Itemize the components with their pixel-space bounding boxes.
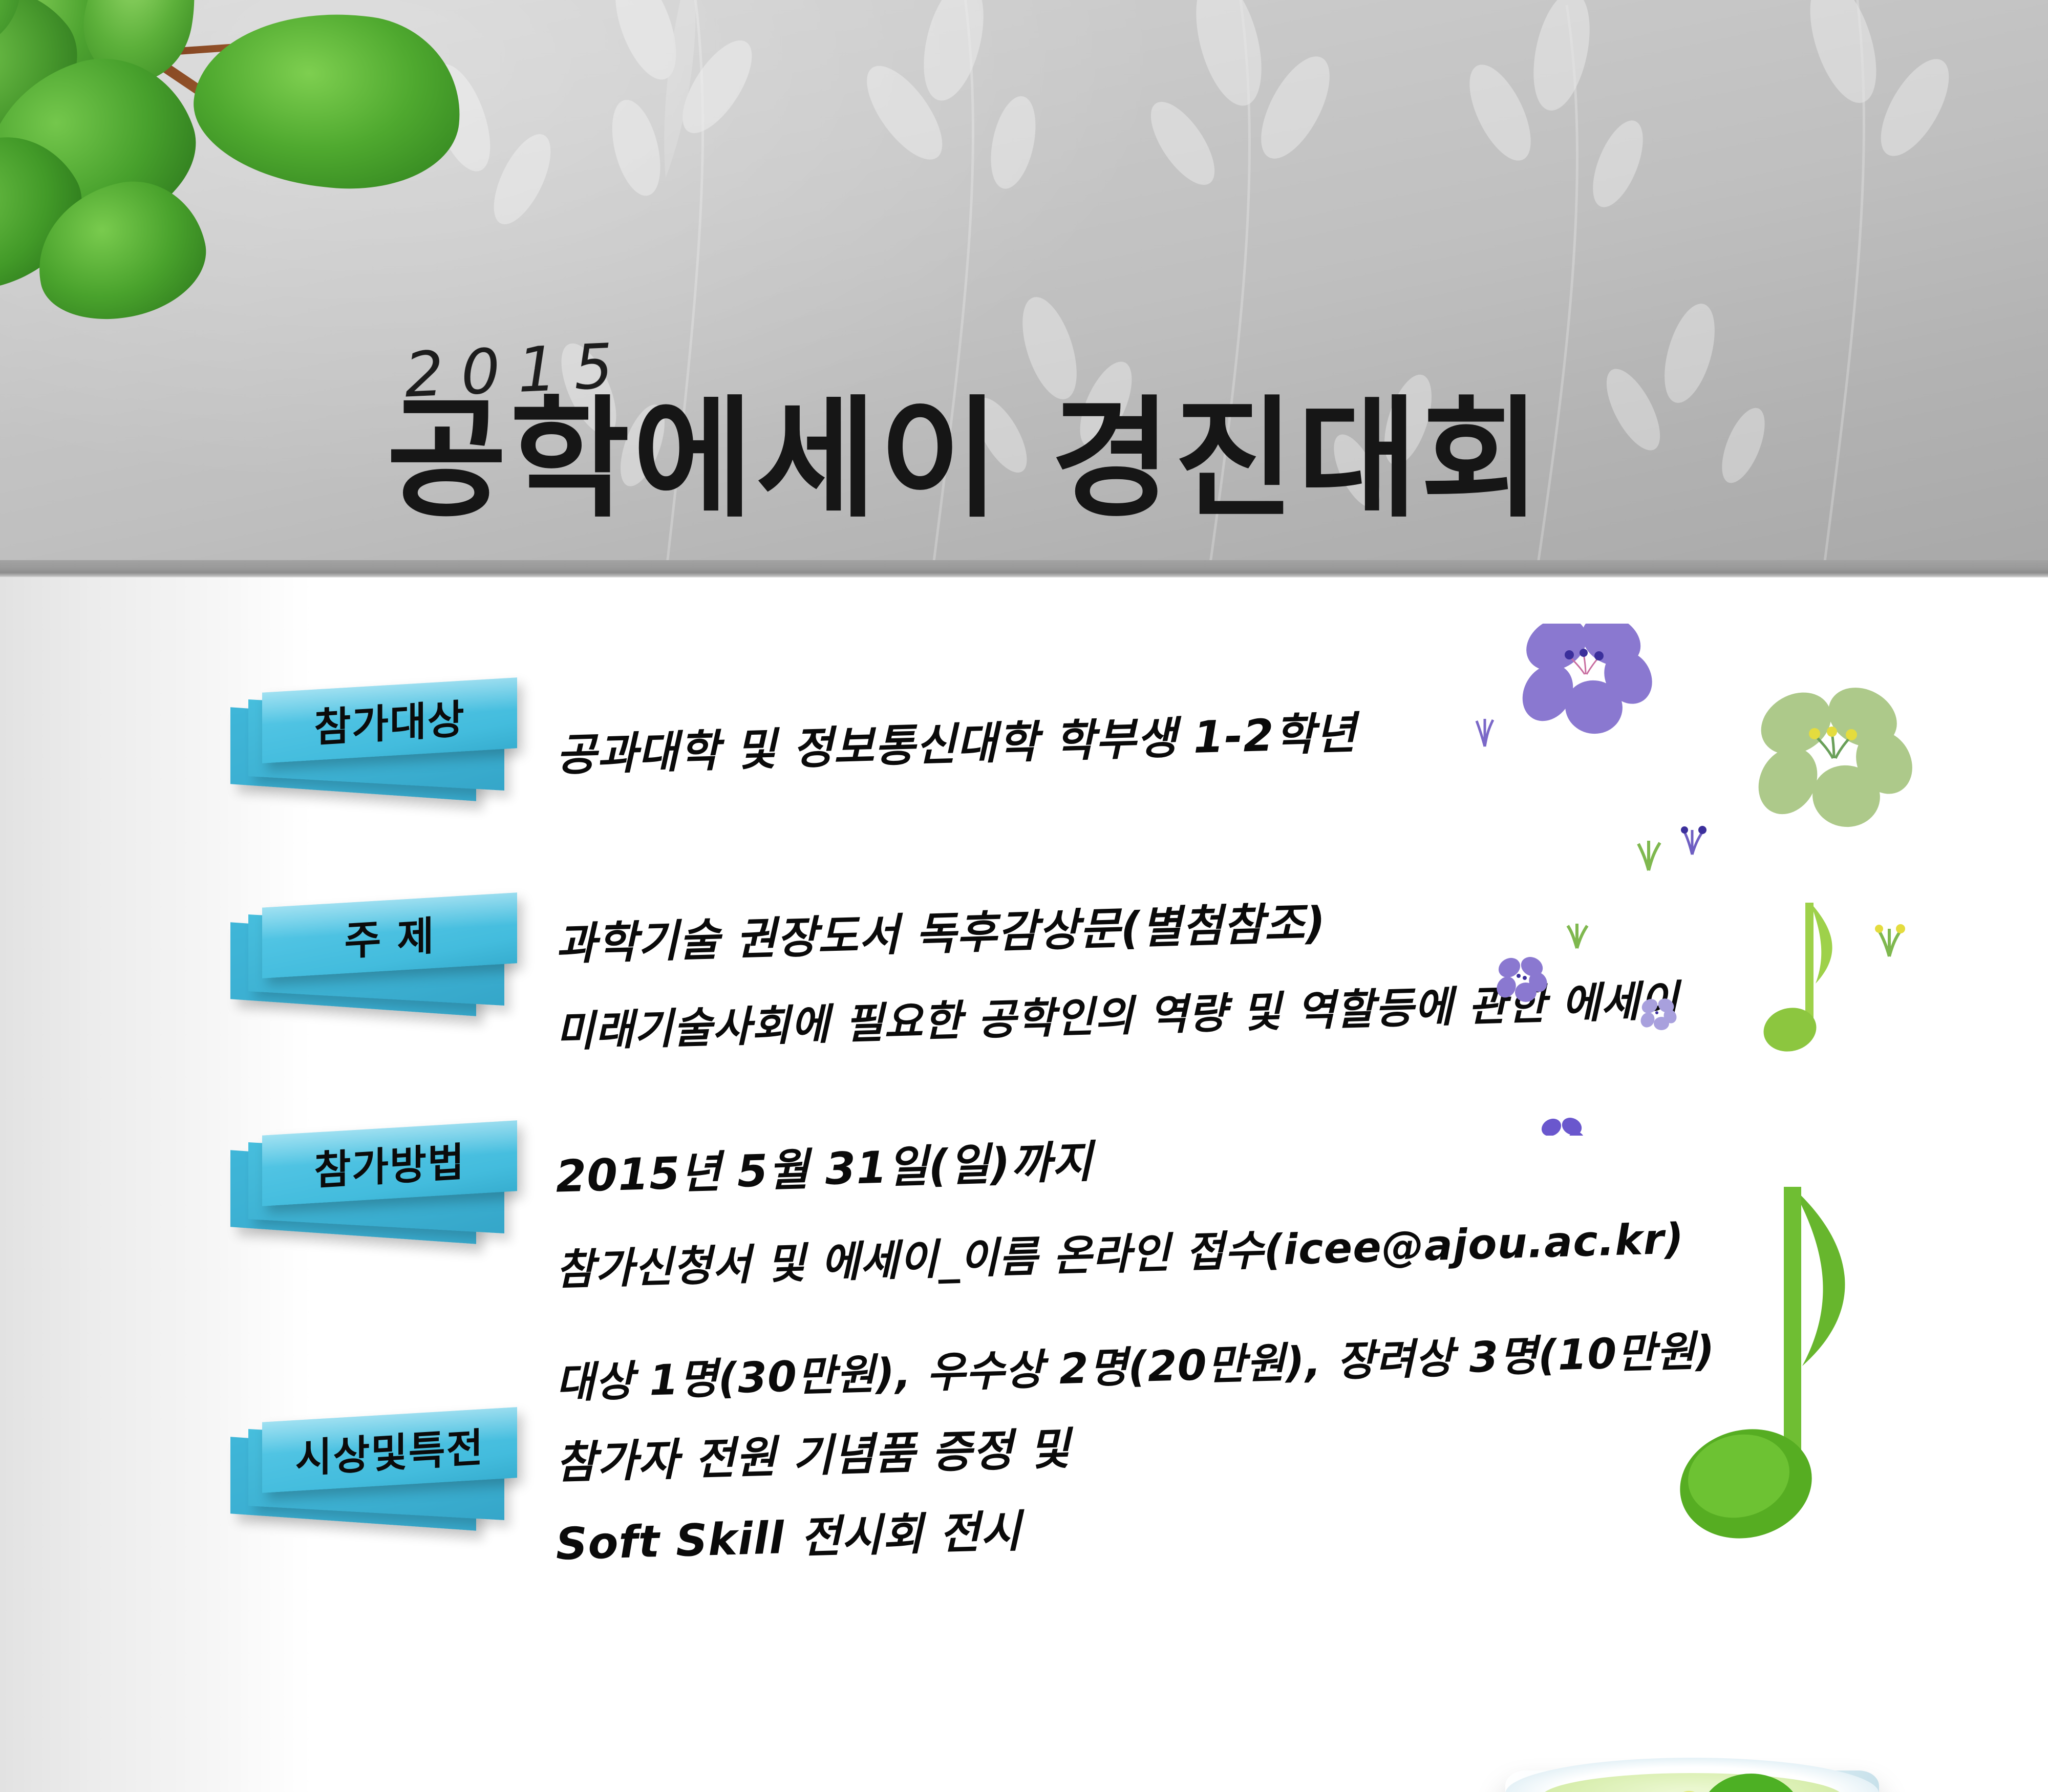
howto-line-1: 2015년 5월 31일(일)까지 (554, 1125, 1093, 1204)
green-flower-icon (1747, 676, 1923, 831)
purple-flower-icon (1512, 624, 1661, 738)
header-bottom-edge (0, 560, 2048, 578)
green-sprig-icon (1875, 924, 1905, 956)
note-label-topic: 주 제 (262, 892, 517, 978)
sticky-note-target[interactable]: 참가대상 (230, 680, 517, 813)
green-sprig-icon (1638, 841, 1660, 870)
howto-line-2: 참가신청서 및 에세이_이름 온라인 접수(icee@ajou.ac.kr) (555, 1204, 1685, 1297)
note-label-prizes: 시상및특전 (262, 1407, 517, 1493)
prizes-line-2: 참가자 전원 기념품 증정 및 (554, 1413, 1071, 1491)
sticky-note-howto[interactable]: 참가방법 (230, 1123, 517, 1256)
note-label-howto: 참가방법 (262, 1120, 517, 1206)
target-line-1: 공과대학 및 정보통신대학 학부생 1-2학년 (555, 697, 1357, 783)
sticky-note-topic[interactable]: 주 제 (230, 895, 517, 1028)
prizes-line-1: 대상 1명(30만원), 우수상 2명(20만원), 장려상 3명(10만원) (555, 1316, 1716, 1410)
sticky-note-prizes[interactable]: 시상및특전 (230, 1410, 517, 1543)
floral-decoration-group (1444, 624, 2048, 1136)
note-label-target: 참가대상 (262, 677, 517, 763)
topic-line-2: 미래기술사회에 필요한 공학인의 역량 및 역할등에 관한 에세이 (555, 966, 1680, 1058)
green-sprig-icon (1568, 924, 1587, 948)
purple-sprig-icon (1477, 719, 1493, 746)
small-blue-flower-icon (1537, 1114, 1588, 1136)
header-band: 2015 공학에세이 경진대회 (0, 0, 2048, 578)
green-music-note-small-icon (1759, 903, 1832, 1057)
topic-line-1: 과학기술 권장도서 독후감상문(별첨참조) (555, 887, 1327, 972)
page-title: 공학에세이 경진대회 (387, 394, 1544, 525)
purple-sprig-icon (1681, 826, 1706, 855)
poster-root: 2015 공학에세이 경진대회 참가대상 주 제 참가방법 (0, 0, 2048, 1792)
poster-body: 참가대상 주 제 참가방법 시상및특전 공과대학 및 정보통신대학 학부생 1-… (0, 578, 2048, 1792)
prizes-line-3: Soft Skill 전시회 전시 (554, 1495, 1022, 1572)
green-leaves-photo (0, 0, 609, 292)
